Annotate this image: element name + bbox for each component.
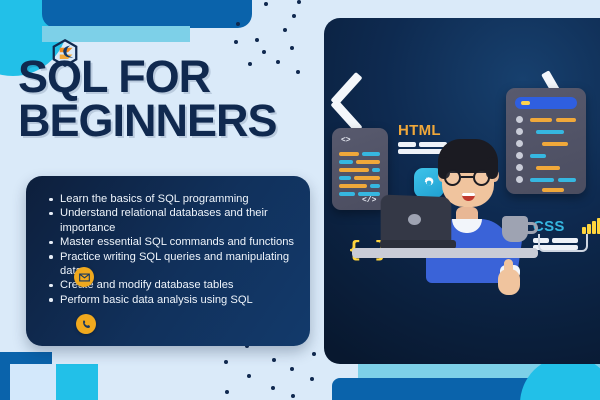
bullet-list-card: Learn the basics of SQL programming Unde… bbox=[26, 176, 310, 346]
desk-surface bbox=[352, 248, 538, 258]
list-item: Perform basic data analysis using SQL bbox=[60, 293, 300, 307]
list-item: Learn the basics of SQL programming bbox=[60, 192, 300, 206]
list-item: Create and modify database tables bbox=[60, 278, 300, 292]
decor-bottom-square-light bbox=[10, 364, 56, 400]
list-item: Master essential SQL commands and functi… bbox=[60, 235, 300, 249]
list-item: Understand relational databases and thei… bbox=[60, 206, 300, 235]
decor-bottom-left-bar bbox=[0, 352, 52, 364]
decor-bottom-square-cyan bbox=[56, 364, 98, 400]
code-card-titlebar bbox=[515, 97, 577, 109]
coffee-mug bbox=[502, 216, 528, 242]
bullet-list: Learn the basics of SQL programming Unde… bbox=[42, 192, 300, 307]
code-open-tag: <> bbox=[341, 136, 351, 145]
bar-chart-icon bbox=[582, 218, 600, 234]
decor-top-bar-dark bbox=[42, 0, 252, 28]
code-card-left: <> </> bbox=[332, 128, 388, 210]
code-close-tag: </> bbox=[362, 196, 376, 205]
character-teeth bbox=[462, 193, 475, 196]
character-thumb bbox=[504, 259, 513, 277]
poster: SQL FOR BEGINNERS Learn the basics of SQ… bbox=[0, 0, 600, 400]
coffee-mug-handle bbox=[526, 222, 538, 234]
laptop-logo bbox=[408, 214, 421, 225]
list-item: Practice writing SQL queries and manipul… bbox=[60, 250, 300, 279]
connector-line bbox=[538, 234, 588, 252]
phone-icon[interactable] bbox=[76, 314, 96, 334]
email-icon[interactable] bbox=[74, 267, 94, 287]
page-title: SQL FOR BEGINNERS bbox=[18, 55, 318, 143]
title-line-2: BEGINNERS bbox=[18, 99, 318, 143]
character-glasses-icon bbox=[442, 169, 494, 187]
illustration-panel: <> </> bbox=[324, 18, 600, 364]
